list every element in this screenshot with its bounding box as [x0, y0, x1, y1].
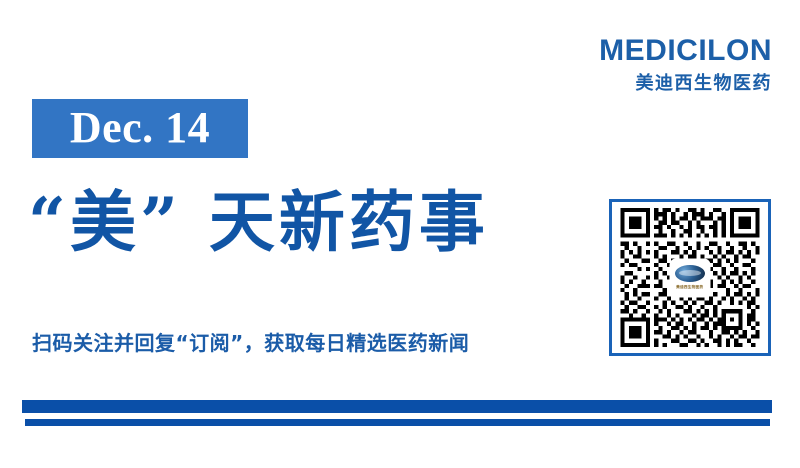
- footer-rule-thin: [25, 419, 770, 426]
- poster-canvas: MEDICILON 美迪西生物医药 Dec. 14 “美” 天新药事 扫码关注并…: [0, 0, 800, 468]
- date-badge: Dec. 14: [32, 99, 248, 158]
- subtitle-text: 扫码关注并回复“订阅”，获取每日精选医药新闻: [32, 331, 469, 355]
- qr-center-logo-caption: 美迪西生物医药: [676, 284, 703, 290]
- brand-name-chinese: 美迪西生物医药: [599, 75, 772, 93]
- brand-name: MEDICILON: [599, 36, 772, 66]
- qr-code-image: 美迪西生物医药: [618, 208, 762, 347]
- brand-logo: MEDICILON 美迪西生物医药: [599, 36, 772, 93]
- date-badge-label: Dec. 14: [70, 106, 210, 150]
- qr-center-logo-mark: [675, 265, 705, 282]
- footer-rule-thick: [22, 400, 772, 413]
- qr-center-logo: 美迪西生物医药: [671, 260, 709, 296]
- qr-code-frame: 美迪西生物医药: [609, 199, 771, 356]
- page-title: “美” 天新药事: [28, 188, 489, 257]
